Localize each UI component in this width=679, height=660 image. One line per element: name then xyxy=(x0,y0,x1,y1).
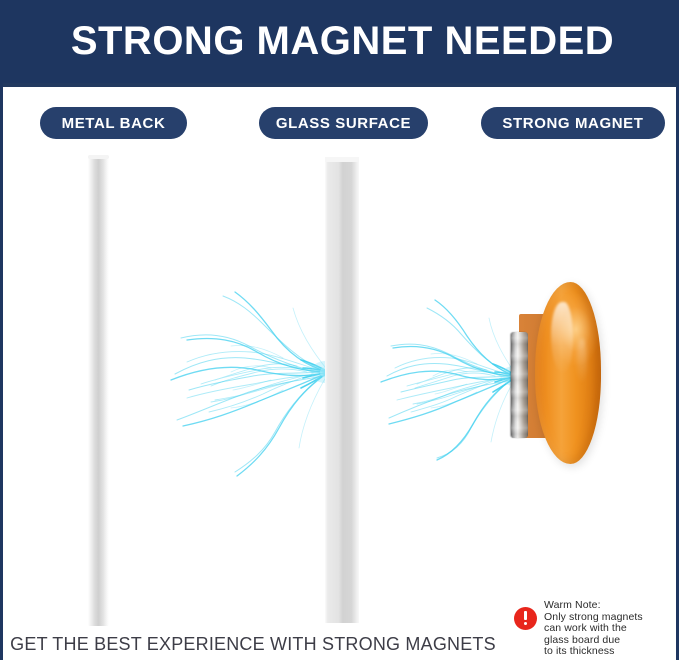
magnet-steel-ring xyxy=(511,332,528,438)
label-strong-magnet: STRONG MAGNET xyxy=(481,107,665,139)
page-title: STRONG MAGNET NEEDED xyxy=(3,18,679,64)
product-infographic: STRONG MAGNET NEEDED METAL BACK GLASS SU… xyxy=(0,0,679,660)
header-underline xyxy=(3,83,679,87)
label-strong-magnet-text: STRONG MAGNET xyxy=(502,115,643,132)
glass-surface-bar xyxy=(325,157,359,623)
magnet-steel-texture xyxy=(511,332,528,438)
magnet-highlight xyxy=(551,302,573,374)
exclamation-glyph xyxy=(524,611,527,626)
warning-line-1: Warm Note: xyxy=(544,600,676,612)
metal-back-bar xyxy=(88,155,109,626)
exclamation-circle-icon xyxy=(514,607,537,630)
magnet-highlight-secondary xyxy=(577,338,587,384)
magnetic-field-left-icon xyxy=(153,280,333,480)
warning-note: Warm Note: Only strong magnets can work … xyxy=(511,600,676,658)
bottom-caption: GET THE BEST EXPERIENCE WITH STRONG MAGN… xyxy=(3,634,503,655)
warning-note-text: Warm Note: Only strong magnets can work … xyxy=(544,600,676,658)
magnet-graphic xyxy=(505,278,605,468)
label-glass-surface: GLASS SURFACE xyxy=(259,107,428,139)
warning-line-5: to its thickness xyxy=(544,646,676,658)
label-metal-back: METAL BACK xyxy=(40,107,187,139)
magnetic-field-right-icon xyxy=(371,292,521,462)
label-glass-surface-text: GLASS SURFACE xyxy=(276,115,411,132)
label-metal-back-text: METAL BACK xyxy=(62,115,166,132)
